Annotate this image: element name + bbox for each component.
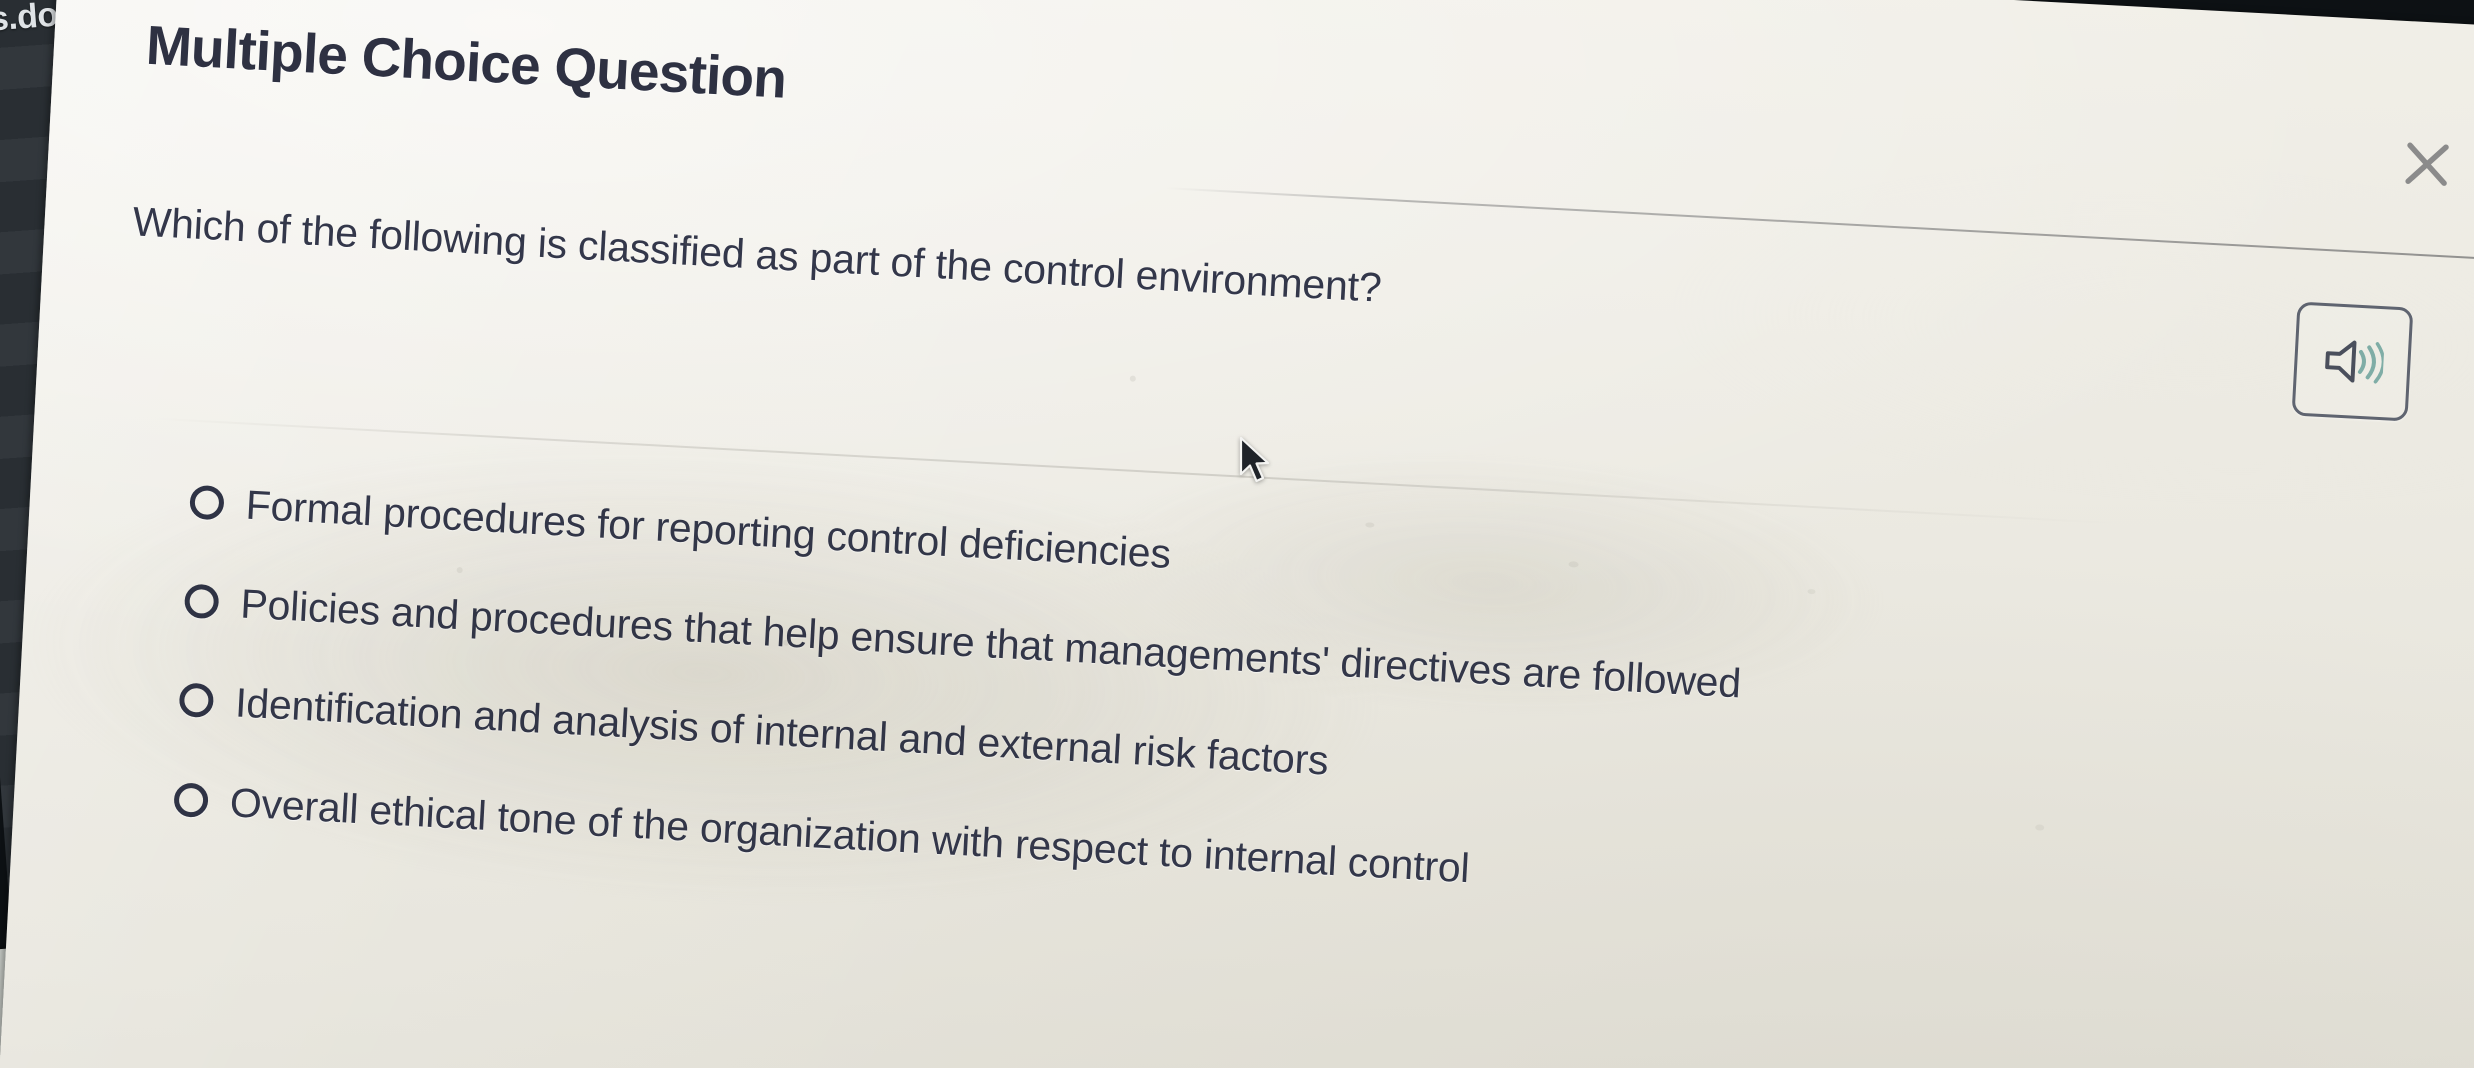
close-icon	[2399, 136, 2456, 193]
radio-button-b[interactable]	[184, 584, 220, 620]
page-title: Multiple Choice Question	[145, 13, 788, 111]
question-prompt: Which of the following is classified as …	[131, 194, 1931, 345]
answer-option-b-label: Policies and procedures that help ensure…	[239, 580, 1742, 709]
modal-content: Multiple Choice Question Which of the fo…	[0, 0, 2474, 1068]
answer-option-a-label: Formal procedures for reporting control …	[245, 481, 1173, 579]
radio-button-c[interactable]	[178, 683, 214, 719]
answer-option-d-label: Overall ethical tone of the organization…	[229, 778, 1471, 893]
close-button[interactable]	[2393, 131, 2460, 198]
screen-speck	[1130, 376, 1136, 382]
radio-button-a[interactable]	[189, 485, 225, 521]
speaker-icon	[2320, 334, 2385, 389]
screen-speck	[1365, 522, 1374, 527]
question-modal: Multiple Choice Question Which of the fo…	[0, 0, 2474, 1068]
answer-option-c-label: Identification and analysis of internal …	[234, 679, 1330, 786]
read-aloud-button[interactable]	[2292, 302, 2414, 422]
radio-button-d[interactable]	[173, 782, 209, 818]
screenshot-photo: sis.docx Multiple Choice Question	[0, 0, 2474, 1068]
answer-options-list: Formal procedures for reporting control …	[170, 478, 2338, 989]
